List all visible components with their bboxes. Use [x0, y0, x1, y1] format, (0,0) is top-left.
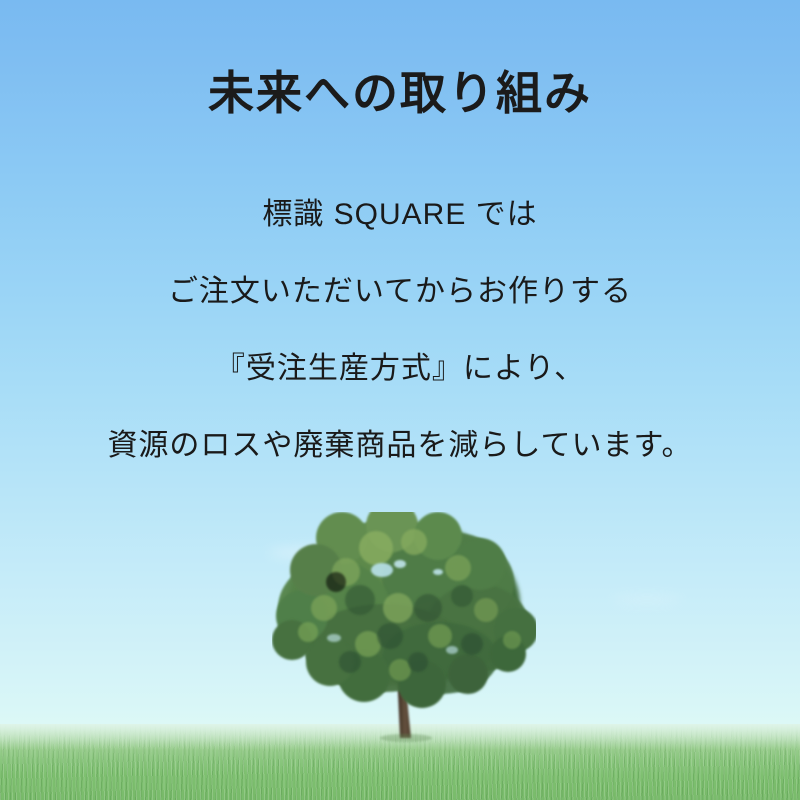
poster-canvas: 未来への取り組み 標識 SQUARE では ご注文いただいてからお作りする 『受… — [0, 0, 800, 800]
body-line-2: ご注文いただいてからお作りする — [0, 273, 800, 311]
body-line-3: 『受注生産方式』により、 — [0, 350, 800, 388]
body-line-4: 資源のロスや廃棄商品を減らしています。 — [0, 427, 800, 465]
body-line-1: 標識 SQUARE では — [0, 196, 800, 234]
text-layer: 未来への取り組み 標識 SQUARE では ご注文いただいてからお作りする 『受… — [0, 0, 800, 800]
page-title: 未来への取り組み — [0, 66, 800, 121]
